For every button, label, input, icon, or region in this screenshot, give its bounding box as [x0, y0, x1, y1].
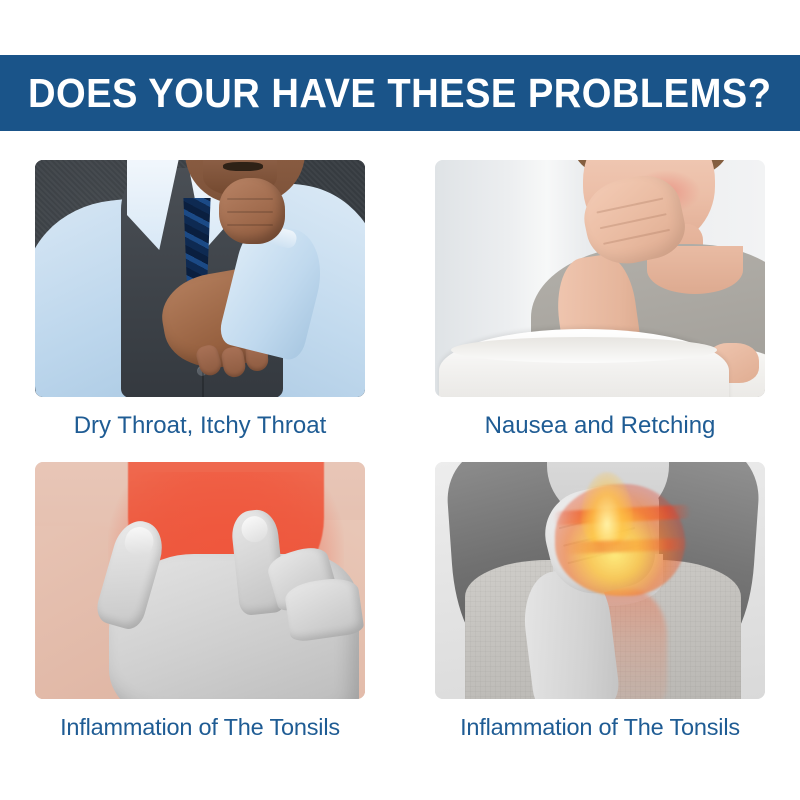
symptom-card-nausea[interactable]: Nausea and Retching	[400, 160, 800, 462]
card-caption: Inflammation of The Tonsils	[460, 715, 740, 741]
poster-root: DOES YOUR HAVE THESE PROBLEMS?	[0, 0, 800, 800]
knuckle-line	[603, 229, 670, 245]
symptom-card-tonsils-right[interactable]: Inflammation of The Tonsils	[400, 462, 800, 764]
photo-man-coughing	[35, 160, 365, 397]
card-caption: Inflammation of The Tonsils	[60, 715, 340, 741]
symptom-card-dry-throat[interactable]: Dry Throat, Itchy Throat	[0, 160, 400, 462]
card-caption: Nausea and Retching	[485, 413, 716, 439]
knuckle-line	[227, 211, 273, 213]
knuckle-line	[227, 198, 273, 200]
fist-at-mouth	[219, 178, 285, 244]
moustache	[223, 162, 263, 171]
card-caption: Dry Throat, Itchy Throat	[74, 413, 327, 439]
page-title: DOES YOUR HAVE THESE PROBLEMS?	[28, 73, 771, 114]
photo-red-throat	[35, 462, 365, 699]
symptom-card-tonsils-left[interactable]: Inflammation of The Tonsils	[0, 462, 400, 764]
symptom-grid: Dry Throat, Itchy Throat	[0, 160, 800, 764]
knuckle-line	[600, 213, 667, 229]
knuckle-line	[596, 197, 663, 213]
knuckle-line	[227, 224, 273, 226]
photo-burning-throat	[435, 462, 765, 699]
photo-woman-nauseous	[435, 160, 765, 397]
header-banner: DOES YOUR HAVE THESE PROBLEMS?	[0, 55, 800, 131]
